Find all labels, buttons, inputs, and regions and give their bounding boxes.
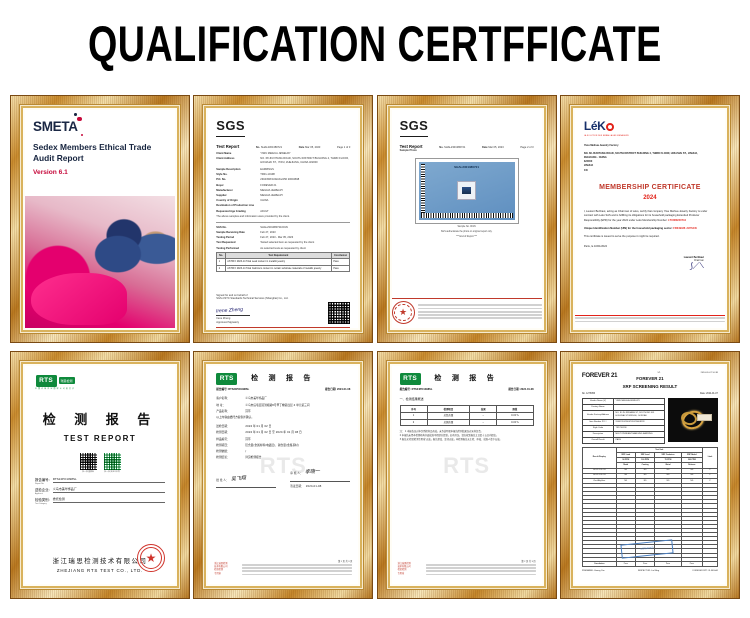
sgs-field-value: TR01-10198	[260, 173, 350, 177]
rts-field-label-en: Test Category	[35, 503, 165, 506]
rts-date-label: 报告日期:	[325, 388, 336, 391]
sgs-sample-info: SGS No.SHAL2301380721001N Sample Receivi…	[216, 226, 350, 250]
leko-certificate-title: MEMBERSHIP CERTIFICATE	[584, 183, 716, 192]
rts-td: 0.01%	[497, 419, 533, 426]
rts-page2-document: RTS 检 测 报 告 报告编号: RTS24PO1098SL 报告日期: 20…	[392, 366, 542, 584]
sgs-signature-block: Signed for and on behalf of SGS-CSTC Sta…	[216, 294, 350, 324]
sgs-field-key: Buyer	[216, 184, 260, 188]
rts-page2-meta: 报告编号: RTS24PO1098SL 报告日期: 2024-01-08	[400, 388, 534, 392]
rts-page2-header: RTS 检 测 报 告	[400, 373, 534, 385]
certificate-frame-rts-page1[interactable]: RTS 检 测 报 告 报告编号: RTS24PO1098SL 报告日期: 20…	[193, 351, 373, 599]
rts-signdate-label: 签发日期：	[290, 485, 303, 489]
rts-td: 1	[400, 412, 427, 419]
f21-info-value: NO. 8 LIN JINXIANG ST, SOUTH NO.109 HOUZ…	[614, 411, 665, 420]
certificate-frame-rts-cover[interactable]: RTS 瑞思检测 中国合格评定国家认可委员会 检 测 报 告 TEST REPO…	[10, 351, 190, 599]
rts-red-seal-icon: ★	[137, 544, 165, 572]
forever21-product-photo	[668, 398, 718, 442]
rts-page1-header: RTS 检 测 报 告	[216, 373, 350, 385]
sgs-field-key: Client Name	[216, 152, 260, 156]
sgs-doc-type: Test Report	[216, 144, 239, 150]
smeta-cover-photo	[25, 196, 175, 328]
table-row: 2 总镉含量 -- 0.01%	[400, 419, 533, 426]
leko-footer	[575, 315, 725, 324]
rts-logo-sub: 中国合格评定国家认可委员会	[35, 388, 75, 391]
rts-qr-caption-2: 扫一扫 关注公众号	[104, 471, 121, 474]
rts-kv-key: 检测项目：	[216, 444, 242, 448]
sgs-field-value: FOREVER 21	[260, 184, 350, 188]
rts-field-value: 义乌市美华饰品厂	[53, 487, 165, 493]
f21-conclusion: Pass	[655, 561, 681, 566]
f21-col-result: Result Display	[582, 447, 616, 468]
sgs-field-value: 2304/XRF1002/A1/A56 20004698	[260, 178, 350, 182]
f21-info-value: PASS	[614, 437, 665, 443]
rts-corner-stamp: 浙江瑞思检测技术有限公司检验检测专用章	[398, 563, 411, 576]
forever21-footer-left: PREPARED: Huang Yan	[582, 570, 605, 573]
sgs-no-label: No.	[439, 146, 443, 149]
sgs-photo-label: SHAL2301380721	[419, 165, 515, 169]
smeta-dot-large-icon	[77, 117, 82, 122]
rts-logo-badge: RTS	[400, 373, 421, 385]
smeta-heading: Sedex Members Ethical Trade Audit Report	[33, 142, 167, 164]
forever21-info-section: Vendor Name (V)YIWU MEIHUA JEWELRY Facto…	[582, 398, 718, 444]
sgs-sample-key: Sample Receiving Date	[216, 231, 260, 235]
rts-date: 2024-01-08	[520, 388, 533, 391]
forever21-footer-right: FOREVER RPT: XLN01-A1	[693, 570, 718, 573]
sgs-no-value: SHAL2301380721	[444, 146, 465, 149]
sgs-signing-company: SGS-CSTC Standards Technical Services (S…	[216, 297, 288, 301]
f21-conclusion: Pass	[616, 561, 635, 566]
sgs-page-value: Page 2 of 3	[520, 146, 533, 150]
certificate-frame-forever21[interactable]: FOREVER 21 1/1 2024-01-07 10:38 FOREVER …	[560, 351, 740, 599]
rts-th: 结果	[470, 406, 497, 413]
rts-watermark: RTS	[443, 451, 490, 481]
rts-watermark: RTS	[260, 451, 307, 481]
table-row-conclusion: Conclusion Pass Pass Pass Pass	[582, 561, 717, 566]
sgs-footer: ★	[216, 327, 350, 328]
rts-kv-value: /	[245, 450, 246, 454]
sgs-field-value: EARRINGS	[260, 168, 350, 172]
leko-document: LéK LA SOLUTION DES EMBALLAGES MENAGERS …	[575, 110, 725, 328]
frame-inner: RTS 检 测 报 告 报告编号: RTS24PO1098SL 报告日期: 20…	[202, 360, 364, 590]
product-tag-icon	[697, 414, 712, 421]
rts-reviewer-signature: 李晓一	[305, 468, 321, 476]
rts-logo-badge: RTS	[216, 373, 237, 385]
rts-kv-key: 样品编号：	[216, 438, 242, 442]
leko-logo-text: LéK	[584, 119, 605, 133]
rts-th: 检测项目	[427, 406, 470, 413]
rts-results-table: 序号 检测项目 结果 限值 1 总铅含量 -- 0.01% 2	[400, 405, 534, 426]
certificate-frame-sgs-report[interactable]: SGS Test Report No. SHAL2301380721 Date …	[193, 95, 373, 343]
qr-code-report-icon[interactable]	[80, 453, 97, 470]
qr-code-wechat-icon[interactable]	[104, 453, 121, 470]
certificate-gallery-page: QUALIFICATION CERTFFICATE SMETA Sedex Me…	[0, 0, 750, 618]
rts-kv-key: 地 址：	[216, 404, 242, 408]
rts-title-en: TEST REPORT	[35, 434, 165, 445]
sgs-signer-title: Approved Signatory	[216, 321, 288, 325]
rts-title-cn: 检 测 报 告	[251, 374, 314, 383]
rts-page1-meta: 报告编号: RTS24PO1098SL 报告日期: 2024-01-08	[216, 388, 350, 392]
rts-footer-address	[242, 564, 352, 577]
smeta-version: Version 6.1	[33, 169, 167, 178]
sgs-cell: Pass	[331, 265, 349, 271]
sgs-field-key: Style No.	[216, 173, 260, 177]
rts-logo: RTS 瑞思检测	[36, 375, 75, 387]
sgs-sample-key: SGS No.	[216, 226, 260, 230]
sgs-sample-value: Feb 27, 2023	[260, 231, 350, 235]
leko-place-date: Paris, le 10/01/2024	[584, 245, 716, 249]
frame-inner: RTS 瑞思检测 中国合格评定国家认可委员会 检 测 报 告 TEST REPO…	[19, 360, 181, 590]
rts-kv-value: 2024 年 01 月 02 日 至 2024 年 01 月 08 日	[245, 431, 301, 435]
leko-uin-label: Unique Identification Number (UIN) for t…	[584, 227, 673, 230]
sgs-page-value: Page 1 of 3	[337, 146, 350, 150]
sgs-field-key: P.O. No.	[216, 178, 260, 182]
rts-td: 总铅含量	[427, 412, 470, 419]
certificate-grid: SMETA Sedex Members Ethical Trade Audit …	[10, 95, 740, 599]
sgs-date-label: Date	[299, 146, 305, 149]
frame-inner: LéK LA SOLUTION DES EMBALLAGES MENAGERS …	[569, 104, 731, 334]
forever21-title-2: XRF SCREENING RESULT	[582, 384, 718, 390]
sgs-field-value: MEIHUA JEWELRY	[260, 189, 350, 193]
rts-title-cn: 检 测 报 告	[35, 412, 165, 430]
certificate-frame-smeta[interactable]: SMETA Sedex Members Ethical Trade Audit …	[10, 95, 190, 343]
f21-conclusion-label: Conclusion	[582, 561, 616, 566]
rts-signdate-value: 2024-01-08	[306, 485, 322, 489]
table-row: 1 总铅含量 -- 0.01%	[400, 412, 533, 419]
rts-kv-value: 铅含量(金属材料/电镀层)、镉含量(金属基材)	[245, 444, 298, 448]
sgs-field-key: Destination of Production Line	[216, 204, 260, 208]
rts-td: --	[470, 419, 497, 426]
rts-td: 2	[400, 419, 427, 426]
f21-conclusion: Pass	[681, 561, 702, 566]
sgs-field-key: Sample Description	[216, 168, 260, 172]
leko-signature-block: Laurent Berthaut Chairman ⟆⟋⟍	[584, 256, 716, 275]
certificate-frame-leko[interactable]: LéK LA SOLUTION DES EMBALLAGES MENAGERS …	[560, 95, 740, 343]
rts-kv-key: 以上内容由委托方提供并确认。	[216, 416, 254, 420]
qr-code-icon	[328, 302, 350, 324]
rts-th: 限值	[497, 406, 533, 413]
forever21-ref-row: No. 1278356 Date: 2024-01-07	[582, 393, 718, 396]
leko-uin-value: FR349426 J17/SCN	[673, 227, 696, 230]
sgs-report-document: SGS Test Report No. SHAL2301380721 Date …	[208, 110, 358, 328]
sgs-field-key: Requested Age Grading	[216, 210, 260, 214]
forever21-doc-date: 2024-01-07 10:38	[701, 372, 718, 375]
forever21-footer: PREPARED: Huang Yan INSPECTOR: Liu Ming …	[582, 570, 718, 573]
sgs-sample-key: Test Requested	[216, 241, 260, 245]
rts-report-no: RTS24PO1098SL	[228, 388, 249, 391]
sgs-photo-caption-3: *** End of Report ***	[400, 236, 534, 239]
forever21-footer-center: INSPECTOR: Liu Ming	[638, 570, 659, 573]
sgs-sub-type: Sample Photo	[400, 149, 423, 153]
sgs-field-value: NO. 68 JIUXITANG ROAD, SOUTH DISTRICT BU…	[260, 157, 350, 164]
leko-body-text: I, Laurent Berthaut, acting as Chairman …	[584, 210, 716, 249]
frame-inner: FOREVER 21 1/1 2024-01-07 10:38 FOREVER …	[569, 360, 731, 590]
leko-body-1: I, Laurent Berthaut, acting as Chairman …	[584, 210, 707, 221]
rts-date-label: 报告日期:	[508, 388, 519, 391]
rts-title-cn: 检 测 报 告	[434, 374, 497, 383]
sgs-no-value: SHAL2301380721	[261, 146, 282, 149]
rts-th: 序号	[400, 406, 427, 413]
sgs-footer: ★	[392, 298, 542, 324]
f21-info-label: Overall Result	[582, 437, 613, 443]
rts-page1-document: RTS 检 测 报 告 报告编号: RTS24PO1098SL 报告日期: 20…	[208, 366, 358, 584]
divider	[216, 222, 350, 223]
sgs-sample-value: Tested selected item as requested by the…	[260, 241, 350, 245]
smeta-logo-text: SMETA	[33, 119, 78, 134]
sgs-field-key: Country of Origin	[216, 199, 260, 203]
page-title-container: QUALIFICATION CERTFFICATE	[0, 0, 750, 88]
sgs-field-key: Supplier	[216, 194, 260, 198]
ruler-horizontal-icon	[421, 213, 513, 218]
forever21-info-table: Vendor Name (V)YIWU MEIHUA JEWELRY Facto…	[582, 398, 665, 444]
sgs-sample-chip	[457, 181, 476, 200]
f21-conclusion: Pass	[635, 561, 654, 566]
frame-inner: RTS 检 测 报 告 报告编号: RTS24PO1098SL 报告日期: 20…	[386, 360, 548, 590]
frame-inner: SGS Test Report Sample Photo No. SHAL230…	[386, 104, 548, 334]
rts-approver-label: 批 准 人：	[216, 479, 228, 483]
rts-report-no-label: 报告编号:	[216, 388, 227, 391]
sgs-field-key: Manufacturer	[216, 189, 260, 193]
table-row: Vendor Factory AddressNO. 8 LIN JINXIANG…	[582, 411, 664, 420]
smeta-dot-navy-icon	[74, 113, 77, 116]
sgs-field-value	[260, 204, 350, 208]
sgs-sample-value: As selected tests as requested by client	[260, 247, 350, 251]
sgs-date-value: Mar 05, 2023	[305, 146, 320, 149]
sgs-provided-note: The above samples and information were p…	[216, 215, 350, 219]
rts-td: 0.01%	[497, 412, 533, 419]
table-row: 2 ASTM F 2923-14 Total Cadmium content i…	[217, 265, 350, 271]
smeta-document: SMETA Sedex Members Ethical Trade Audit …	[25, 110, 175, 328]
sgs-cell: ASTM F 2923-14 Total Cadmium content in …	[225, 265, 331, 271]
sgs-sample-key: Testing Performed	[216, 247, 260, 251]
sgs-field-value: YIWU MEIHUA JEWELRY	[260, 152, 350, 156]
f21-info-label: Vendor Factory Address	[582, 411, 613, 420]
table-row: Overall ResultPASS	[582, 437, 664, 443]
sgs-results-table: No. Test Requirement Conclusion 1 ASTM F…	[216, 252, 350, 272]
sgs-sample-value: Feb 27, 2023 - Mar 05, 2023	[260, 236, 350, 240]
sgs-red-seal-icon: ★	[392, 301, 415, 324]
rts-logo-cn: 瑞思检测	[59, 377, 75, 384]
forever21-date-value: 2024-01-07	[706, 393, 718, 395]
leko-logo: LéK	[584, 118, 716, 134]
sgs-logo: SGS	[216, 117, 245, 137]
forever21-document: FOREVER 21 1/1 2024-01-07 10:38 FOREVER …	[575, 366, 725, 584]
leko-certificate-year: 2024	[584, 194, 716, 202]
rts-field-label-en: Applicant	[35, 493, 165, 496]
leko-handwritten-signature: ⟆⟋⟍	[584, 260, 704, 279]
sgs-photo-document: SGS Test Report Sample Photo No. SHAL230…	[392, 110, 542, 328]
rts-qr-caption-1: 扫一扫 查报告	[80, 471, 97, 474]
rts-report-no-label: 报告编号:	[400, 388, 411, 391]
rts-kv-key: 检测依据：	[216, 450, 242, 454]
rts-section-title: 一、检测结果概述	[400, 397, 534, 401]
sgs-field-key: Client Address	[216, 157, 260, 164]
rts-cover-document: RTS 瑞思检测 中国合格评定国家认可委员会 检 测 报 告 TEST REPO…	[25, 366, 175, 584]
jewelry-icon	[462, 187, 471, 194]
rts-kv-key: 送检日期：	[216, 425, 242, 429]
sgs-photo-caption-1: Sample No. 001N	[400, 226, 534, 229]
rts-td: 总镉含量	[427, 419, 470, 426]
sgs-date-value: Mar 05, 2023	[488, 146, 503, 149]
sgs-sample-value: SHAL2301380721001N	[260, 226, 350, 230]
rts-logo-badge: RTS	[36, 375, 57, 387]
rts-field-value: 委托检测	[53, 497, 165, 503]
rts-kv-value: 耳环	[245, 410, 250, 414]
rts-field-label-en: Report No.	[35, 483, 165, 486]
sgs-handwritten-signature: Irene Zheng	[216, 303, 288, 315]
sgs-logo: SGS	[400, 117, 429, 137]
forever21-date-label: Date:	[700, 393, 706, 395]
forever21-ref-value: 1278356	[586, 393, 595, 395]
sgs-cell: 2	[217, 265, 226, 271]
rts-notes: 注： 1 本报告仅对本次所检样品有效，未作说明者本报告所列结果仅对来样负责。 2…	[400, 430, 534, 442]
leko-member-number: LTU080240744	[668, 219, 686, 222]
rts-note-line: 3 报告无'检验检测专用章'无效，报告涂改、复印无效，本检测报告无主检、审核、批…	[400, 438, 534, 442]
sgs-date-label: Date	[482, 146, 488, 149]
rts-approver-signature: 吴飞翔	[231, 475, 247, 483]
rts-field-value: RTS24PO1098SL	[53, 477, 165, 483]
sgs-no-label: No.	[256, 146, 260, 149]
rts-corner-stamp: 浙江瑞思检测技术有限公司检验检测专用章	[214, 563, 227, 576]
sgs-photo-caption-2: SGS authenticate the photo on original r…	[400, 231, 534, 234]
rts-cover-fields: 报告编号: RTS24PO1098SL Report No. 送检企业: 义乌市…	[35, 477, 165, 505]
rts-kv-key: 产品名称：	[216, 410, 242, 414]
sgs-field-value: CHINA	[260, 199, 350, 203]
forever21-ref-label: No.	[582, 393, 586, 395]
leko-addressee-block: Yiwu Meihua Jewelry Factory NO. 68 JIUXI…	[584, 144, 716, 173]
rts-kv-key: 检测日期：	[216, 431, 242, 435]
leko-address-line: CN	[584, 169, 716, 173]
rts-footer-address	[426, 564, 536, 577]
f21-col-limit: Limit	[703, 447, 718, 468]
rts-report-no: RTS24PO1098SL	[412, 388, 433, 391]
leko-logo-o-icon	[606, 123, 614, 131]
frame-inner: SMETA Sedex Members Ethical Trade Audit …	[19, 104, 181, 334]
sgs-photo-header: Test Report Sample Photo No. SHAL2301380…	[400, 144, 534, 153]
rts-kv-key: 检测结论：	[216, 456, 242, 460]
rts-kv-value: 耳环	[245, 438, 250, 442]
rts-kv-value: 义乌市后宅街道洪塘路8号甲丁幢第四层 4 单元第三间	[245, 404, 309, 408]
certificate-frame-rts-page2[interactable]: RTS 检 测 报 告 报告编号: RTS24PO1098SL 报告日期: 20…	[377, 351, 557, 599]
rts-kv-value: 2024 年 01 月 02 日	[245, 425, 271, 429]
smeta-dot-small-icon	[81, 134, 83, 136]
smeta-logo: SMETA	[33, 118, 78, 136]
rts-kv-value: 义乌市美华饰品厂	[245, 397, 267, 401]
sgs-field-value: MEIHUA JEWELRY	[260, 194, 350, 198]
rts-td: --	[470, 412, 497, 419]
forever21-page-label: 1/1	[657, 372, 660, 375]
sgs-sample-key: Testing Period	[216, 236, 260, 240]
rts-date: 2024-01-08	[337, 388, 350, 391]
sgs-field-value: ADULT	[260, 210, 350, 214]
certificate-frame-sgs-photo[interactable]: SGS Test Report Sample Photo No. SHAL230…	[377, 95, 557, 343]
sgs-report-header: Test Report No. SHAL2301380721 Date Mar …	[216, 144, 350, 150]
rts-kv-key: 客户名称：	[216, 397, 242, 401]
rts-qr-row: 扫一扫 查报告 扫一扫 关注公众号	[35, 453, 165, 474]
ruler-vertical-icon	[421, 164, 425, 218]
page-title: QUALIFICATION CERTFFICATE	[88, 15, 662, 72]
sgs-sample-photo: SHAL2301380721	[419, 162, 515, 220]
forever21-logo: FOREVER 21	[582, 372, 617, 380]
frame-inner: SGS Test Report No. SHAL2301380721 Date …	[202, 104, 364, 334]
sgs-sample-photo-box: SHAL2301380721	[415, 158, 519, 224]
leko-logo-tagline: LA SOLUTION DES EMBALLAGES MENAGERS	[584, 135, 716, 138]
sgs-client-fields: Client NameYIWU MEIHUA JEWELRY Client Ad…	[216, 152, 350, 218]
